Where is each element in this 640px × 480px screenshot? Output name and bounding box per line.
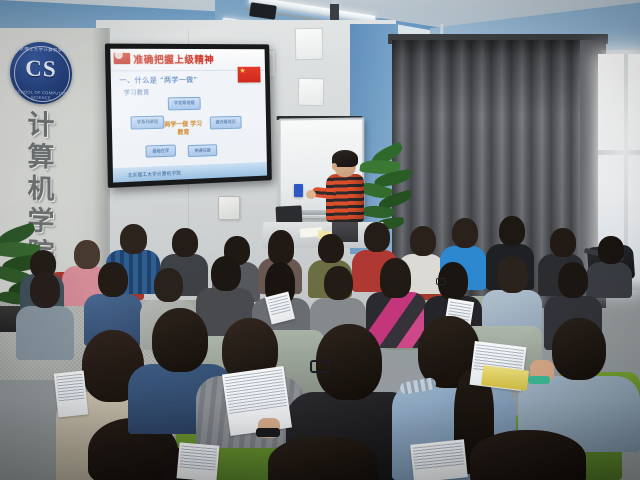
eyeglasses-icon — [436, 278, 446, 285]
handout-paper[interactable] — [54, 371, 88, 418]
emblem-letters: CS — [10, 55, 72, 91]
green-wristband — [528, 376, 550, 384]
wall-paper-sheet — [298, 78, 324, 106]
signage-char-3: 机 — [28, 175, 55, 203]
diagram-box-right: 做合格党员 — [210, 116, 242, 130]
slide-footer-logo — [114, 51, 123, 59]
diagram-box-bottom-right: 关键在做 — [188, 144, 218, 157]
signage-char-2: 算 — [28, 143, 55, 171]
wall-light-switch[interactable] — [218, 196, 240, 220]
diagram-center-label: 两学一做 学习教育 — [161, 121, 205, 138]
handout-paper[interactable] — [410, 439, 468, 480]
red-flag-icon — [238, 67, 261, 83]
slide-surface: 准确把握上级精神 一、什么是 “两学一做” 学习教育 学党章党规 学系列讲话 做… — [110, 49, 267, 183]
presentation-clicker[interactable] — [294, 184, 303, 197]
emblem-bottom-arc-text: SCHOOL OF COMPUTER SCIENCE — [10, 89, 72, 101]
presenter-ear — [332, 163, 337, 170]
diagram-box-bottom-left: 基础在学 — [145, 145, 176, 158]
presenter-hand — [306, 190, 316, 199]
person-foreground-head — [268, 436, 388, 480]
diagram-box-top: 学党章党规 — [168, 97, 201, 111]
slide-subtitle: 一、什么是 “两学一做” — [119, 75, 197, 86]
eyeglasses-icon — [310, 360, 330, 373]
signage-char-1: 计 — [28, 111, 55, 139]
slide-title: 准确把握上级精神 — [133, 52, 214, 66]
person-foreground-head-right — [470, 430, 590, 480]
slide-subtitle-secondary: 学习教育 — [124, 87, 150, 97]
diagram-box-left: 学系列讲话 — [130, 116, 164, 130]
handout-paper[interactable] — [177, 442, 220, 480]
lecture-hall-photo: 北京理工大学计算机学院 CS SCHOOL OF COMPUTER SCIENC… — [0, 0, 640, 480]
handout-paper[interactable] — [222, 366, 292, 436]
projection-screen: 准确把握上级精神 一、什么是 “两学一做” 学习教育 学党章党规 学系列讲话 做… — [105, 44, 272, 188]
wall-paper-sheet — [295, 28, 324, 60]
